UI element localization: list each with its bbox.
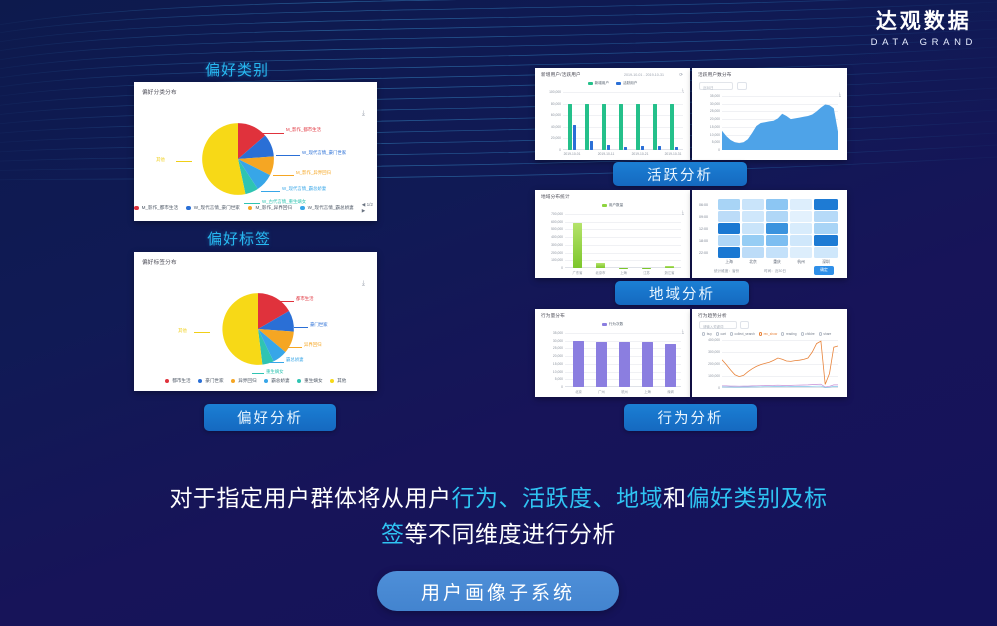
legend-label: W_现代言情_豪门世家 <box>194 205 240 211</box>
caption-preference-tag: 偏好标签 <box>207 228 271 249</box>
pill-region-analysis[interactable]: 地域分析 <box>615 281 749 305</box>
legend-swatch <box>781 332 784 335</box>
legend-label: 活跃用户 <box>623 81 637 86</box>
legend-label: 行为次数 <box>609 322 623 327</box>
heatmap-cell[interactable] <box>790 199 812 210</box>
legend-label: 用户数量 <box>609 203 623 208</box>
pie-leader-label-1: W_现代言情_豪门世家 <box>302 150 346 156</box>
heatmap-cell[interactable] <box>742 199 764 210</box>
heatmap-row-label-4: 22:00 <box>699 251 708 255</box>
legend-swatch <box>602 323 607 326</box>
download-icon[interactable]: ⤓ <box>839 92 841 98</box>
pill-label: 偏好分析 <box>237 407 303 428</box>
legend-swatch <box>602 204 607 207</box>
pill-label: 用户画像子系统 <box>421 578 575 605</box>
legend-item[interactable]: M_影作_都市生活 <box>134 205 178 211</box>
heatmap-row-label-1: 09:00 <box>699 215 708 219</box>
legend-label: rec_show <box>764 332 778 336</box>
plot-area: 400,000300,000 200,000100,000 0 <box>722 340 838 388</box>
confirm-button[interactable]: 确定 <box>814 266 834 275</box>
filter-select[interactable]: 近30日 <box>699 82 733 90</box>
legend-item[interactable]: buy <box>702 332 712 336</box>
legend-item[interactable]: 用户数量 <box>602 203 623 208</box>
leader-line-0 <box>280 301 294 302</box>
panel-title: 行为量分布 <box>541 313 565 319</box>
legend-item[interactable]: 活跃用户 <box>616 81 637 86</box>
leader-line-2 <box>273 175 294 176</box>
plot-area: 35,00030,000 25,00020,000 15,00010,000 5… <box>565 333 681 387</box>
heatmap-control-time[interactable]: 时间：近30日 <box>764 269 786 274</box>
legend-swatch <box>801 332 804 335</box>
slide-root: 达观数据 DATA GRAND 偏好类别 偏好分类分布 ⤓ M_影作_都市生活 … <box>0 0 997 626</box>
confirm-label: 确定 <box>820 268 828 273</box>
legend-label: 新增用户 <box>595 81 609 86</box>
paragraph-line1-part2: 和 <box>663 485 687 511</box>
legend-item[interactable]: rec_show <box>759 332 777 336</box>
heatmap-cell[interactable] <box>814 211 838 222</box>
download-icon[interactable]: ⤓ <box>362 110 365 118</box>
paragraph-line2-part: 等不同维度进行分析 <box>405 521 617 547</box>
panel-region-heatmap[interactable]: 06:00 09:00 12:00 18:00 22:00 上海 北京 重庆 <box>692 190 847 278</box>
pill-label: 活跃分析 <box>647 164 713 185</box>
panel-title: 新增用户/活跃用户 <box>541 72 581 78</box>
leader-line-other <box>194 332 210 333</box>
legend-label: collect_search <box>735 332 755 336</box>
heatmap-col-label-2: 重庆 <box>773 260 781 265</box>
panel-title: 活跃用户数分布 <box>698 72 732 78</box>
legend-label: buy <box>707 332 712 336</box>
heatmap-cell[interactable] <box>718 199 740 210</box>
panel-title: 地域分布统计 <box>541 194 570 200</box>
heatmap-col-label-3: 杭州 <box>797 260 805 265</box>
pie-leader-label-3: 霸总娇妻 <box>286 357 304 363</box>
legend-item[interactable]: M_影作_异界回归 <box>248 205 292 211</box>
legend-swatch <box>231 379 236 384</box>
filter-label: 近30日 <box>703 85 714 90</box>
area-series <box>722 96 838 150</box>
plot-area: 700,000600,000 500,000400,000 300,000200… <box>565 214 681 268</box>
legend-swatch <box>616 82 621 85</box>
brand-name-en: DATA GRAND <box>871 37 977 48</box>
leader-line-2 <box>288 347 302 348</box>
heatmap-cell[interactable] <box>790 223 812 234</box>
download-icon[interactable]: ⤓ <box>362 280 365 288</box>
legend-label: cart <box>721 332 726 336</box>
search-input[interactable]: 请输入关键词 <box>699 321 737 329</box>
legend-label: M_影作_都市生活 <box>142 205 179 211</box>
heatmap-cell[interactable] <box>718 235 740 246</box>
leader-line-1 <box>294 327 308 328</box>
legend-item[interactable]: W_现代言情_霸总娇妻 <box>300 205 354 211</box>
pill-activity-analysis[interactable]: 活跃分析 <box>613 162 747 186</box>
legend-swatch <box>264 379 269 384</box>
heatmap-cell[interactable] <box>718 211 740 222</box>
pill-label: 行为分析 <box>658 407 724 428</box>
heatmap-col-label-4: 深圳 <box>822 260 830 265</box>
brand-logo: 达观数据 DATA GRAND <box>871 10 977 48</box>
leader-line-3 <box>261 191 280 192</box>
pill-behavior-analysis[interactable]: 行为分析 <box>624 404 757 431</box>
legend-item[interactable]: 异界回归 <box>231 378 257 384</box>
pie-leader-label-0: M_影作_都市生活 <box>286 127 321 133</box>
panel-active-trend[interactable]: 活跃用户数分布 近30日 ⤓ 35,00030,000 25,00020,000… <box>692 68 847 160</box>
pie-leader-label-2: M_影作_异界回归 <box>296 170 331 176</box>
download-icon[interactable]: ⤓ <box>682 210 684 216</box>
filter-toggle[interactable] <box>737 82 747 90</box>
legend-label: M_影作_异界回归 <box>255 205 292 211</box>
chart-legend: 行为次数 <box>535 322 690 327</box>
panel-behavior-trend[interactable]: 行为趋势分析 请输入关键词 buy cart collect_search re… <box>692 309 847 397</box>
legend-label: 其他 <box>337 378 346 384</box>
panel-behavior-volume[interactable]: 行为量分布 行为次数 ⤓ 35,00030,000 25,00020,000 1… <box>535 309 690 397</box>
heatmap-control-dimension[interactable]: 统计维度：省份 <box>714 269 739 274</box>
panel-title: 偏好标签分布 <box>142 258 177 266</box>
legend-label: 异界回归 <box>238 378 256 384</box>
leader-line-1 <box>276 155 300 156</box>
legend-swatch <box>819 332 822 335</box>
legend-item[interactable]: childre <box>801 332 815 336</box>
legend-swatch <box>165 379 170 384</box>
legend-swatch <box>588 82 593 85</box>
legend-item[interactable]: 新增用户 <box>588 81 609 86</box>
pie-chart <box>192 120 284 198</box>
refresh-icon[interactable]: ⟳ <box>679 72 683 78</box>
legend-swatch <box>730 332 733 335</box>
line-series-group <box>722 340 838 388</box>
plot-area: 100,00080,000 60,00040,000 20,0000 2019-… <box>563 92 683 150</box>
legend-swatch <box>248 206 253 211</box>
heatmap-cell[interactable] <box>814 235 838 246</box>
legend-label: 都市生活 <box>172 378 190 384</box>
panel-title: 偏好分类分布 <box>142 88 177 96</box>
legend-label: reading <box>786 332 797 336</box>
legend-swatch <box>297 379 302 384</box>
legend-swatch <box>300 206 305 211</box>
heatmap-cell[interactable] <box>814 199 838 210</box>
paragraph-highlight-2: 偏好类别及标 <box>687 485 828 511</box>
leader-line-4 <box>252 373 264 374</box>
legend-label: 重生嫡女 <box>304 378 322 384</box>
legend-item[interactable]: 都市生活 <box>165 378 191 384</box>
paragraph-highlight-1: 行为、活跃度、地域 <box>452 485 664 511</box>
chart-legend: 新增用户 活跃用户 <box>535 81 690 86</box>
legend-label: 霸总娇妻 <box>271 378 289 384</box>
heatmap-col-label-1: 北京 <box>749 260 757 265</box>
legend-item[interactable]: 其他 <box>330 378 347 384</box>
search-toggle[interactable] <box>740 321 749 329</box>
heatmap-row-label-3: 18:00 <box>699 239 708 243</box>
heatmap-cell[interactable] <box>814 223 838 234</box>
heatmap-cell[interactable] <box>766 247 788 258</box>
plot-area: 35,00030,000 25,00020,000 15,00010,000 5… <box>722 96 838 150</box>
search-placeholder: 请输入关键词 <box>703 324 723 329</box>
heatmap-col-label-0: 上海 <box>725 260 733 265</box>
panel-title: 行为趋势分析 <box>698 313 727 319</box>
legend-swatch <box>716 332 719 335</box>
heatmap-cell[interactable] <box>742 211 764 222</box>
paragraph-line1-part1: 对于指定用户群体将从用户 <box>170 485 452 511</box>
legend-swatch <box>134 206 139 211</box>
pill-preference-analysis[interactable]: 偏好分析 <box>204 404 336 431</box>
legend-label: childre <box>805 332 814 336</box>
legend-item[interactable]: collect_search <box>730 332 755 336</box>
pill-label: 地域分析 <box>649 283 715 304</box>
legend-swatch <box>330 379 335 384</box>
summary-paragraph: 对于指定用户群体将从用户行为、活跃度、地域和偏好类别及标 签等不同维度进行分析 <box>0 480 997 552</box>
legend-label: share <box>823 332 831 336</box>
paragraph-highlight-3: 签 <box>381 521 405 547</box>
legend-swatch <box>759 332 762 335</box>
legend-swatch <box>198 379 203 384</box>
brand-name-cn: 达观数据 <box>871 10 977 34</box>
legend-item[interactable]: 豪门世家 <box>198 378 224 384</box>
heatmap-cell[interactable] <box>718 247 740 258</box>
download-icon[interactable]: ⤓ <box>682 329 684 335</box>
panel-region-distribution[interactable]: 地域分布统计 用户数量 ⤓ 700,000600,000 500,000400,… <box>535 190 690 278</box>
pie-leader-label-0: 都市生活 <box>296 296 314 302</box>
chart-legend: 用户数量 <box>535 203 690 208</box>
legend-item[interactable]: share <box>819 332 832 336</box>
legend-label: W_现代言情_霸总娇妻 <box>308 205 354 211</box>
pie-leader-label-other: 其他 <box>178 328 187 334</box>
heatmap-cell[interactable] <box>766 235 788 246</box>
heatmap-cell[interactable] <box>814 247 838 258</box>
leader-line-other <box>176 161 192 162</box>
pie-leader-label-4: 重生嫡女 <box>266 369 284 375</box>
legend-item[interactable]: W_现代言情_豪门世家 <box>186 205 240 211</box>
legend-item[interactable]: 霸总娇妻 <box>264 378 290 384</box>
heatmap-cell[interactable] <box>766 211 788 222</box>
heatmap-cell[interactable] <box>790 247 812 258</box>
heatmap-cell[interactable] <box>790 211 812 222</box>
legend-item[interactable]: 重生嫡女 <box>297 378 323 384</box>
caption-preference-category: 偏好类别 <box>205 59 269 80</box>
panel-active-users[interactable]: 新增用户/活跃用户 2019-10-01 - 2019-10-31 ⟳ 新增用户… <box>535 68 690 160</box>
pie-leader-label-1: 豪门世家 <box>310 322 328 328</box>
legend-pager[interactable]: ◀ 1/2 ▶ <box>362 202 377 214</box>
pie-legend: 都市生活 豪门世家 异界回归 霸总娇妻 重生嫡女 其他 <box>134 378 377 384</box>
heatmap-cell[interactable] <box>790 235 812 246</box>
legend-label: 豪门世家 <box>205 378 223 384</box>
date-range-label[interactable]: 2019-10-01 - 2019-10-31 <box>624 73 664 77</box>
panel-preference-category-pie[interactable]: 偏好分类分布 ⤓ M_影作_都市生活 W_现代言情_豪门世家 M_影作_异界回归… <box>134 82 377 221</box>
heatmap-cell[interactable] <box>742 247 764 258</box>
pie-leader-label-2: 异界回归 <box>304 342 322 348</box>
heatmap-cell[interactable] <box>742 223 764 234</box>
legend-item[interactable]: reading <box>781 332 796 336</box>
heatmap-cell[interactable] <box>718 223 740 234</box>
heatmap-cell[interactable] <box>766 199 788 210</box>
legend-swatch <box>702 332 705 335</box>
heatmap-row-label-2: 12:00 <box>699 227 708 231</box>
heatmap-cell[interactable] <box>766 223 788 234</box>
pie-legend: M_影作_都市生活 W_现代言情_豪门世家 M_影作_异界回归 W_现代言情_霸… <box>134 202 377 214</box>
heatmap-cell[interactable] <box>742 235 764 246</box>
legend-item[interactable]: 行为次数 <box>602 322 623 327</box>
heatmap-row-label-0: 06:00 <box>699 203 708 207</box>
legend-swatch <box>186 206 191 211</box>
leader-line-3 <box>270 362 284 363</box>
leader-line-0 <box>260 133 284 134</box>
chart-legend: buy cart collect_search rec_show reading… <box>702 332 831 336</box>
panel-preference-tag-pie[interactable]: 偏好标签分布 ⤓ 都市生活 豪门世家 异界回归 霸总娇妻 重生嫡女 其他 <box>134 252 377 391</box>
pie-leader-label-3: W_现代言情_霸总娇妻 <box>282 186 326 192</box>
pill-user-profiling-system[interactable]: 用户画像子系统 <box>377 571 619 611</box>
legend-item[interactable]: cart <box>716 332 726 336</box>
pie-leader-label-other: 其他 <box>156 157 165 163</box>
